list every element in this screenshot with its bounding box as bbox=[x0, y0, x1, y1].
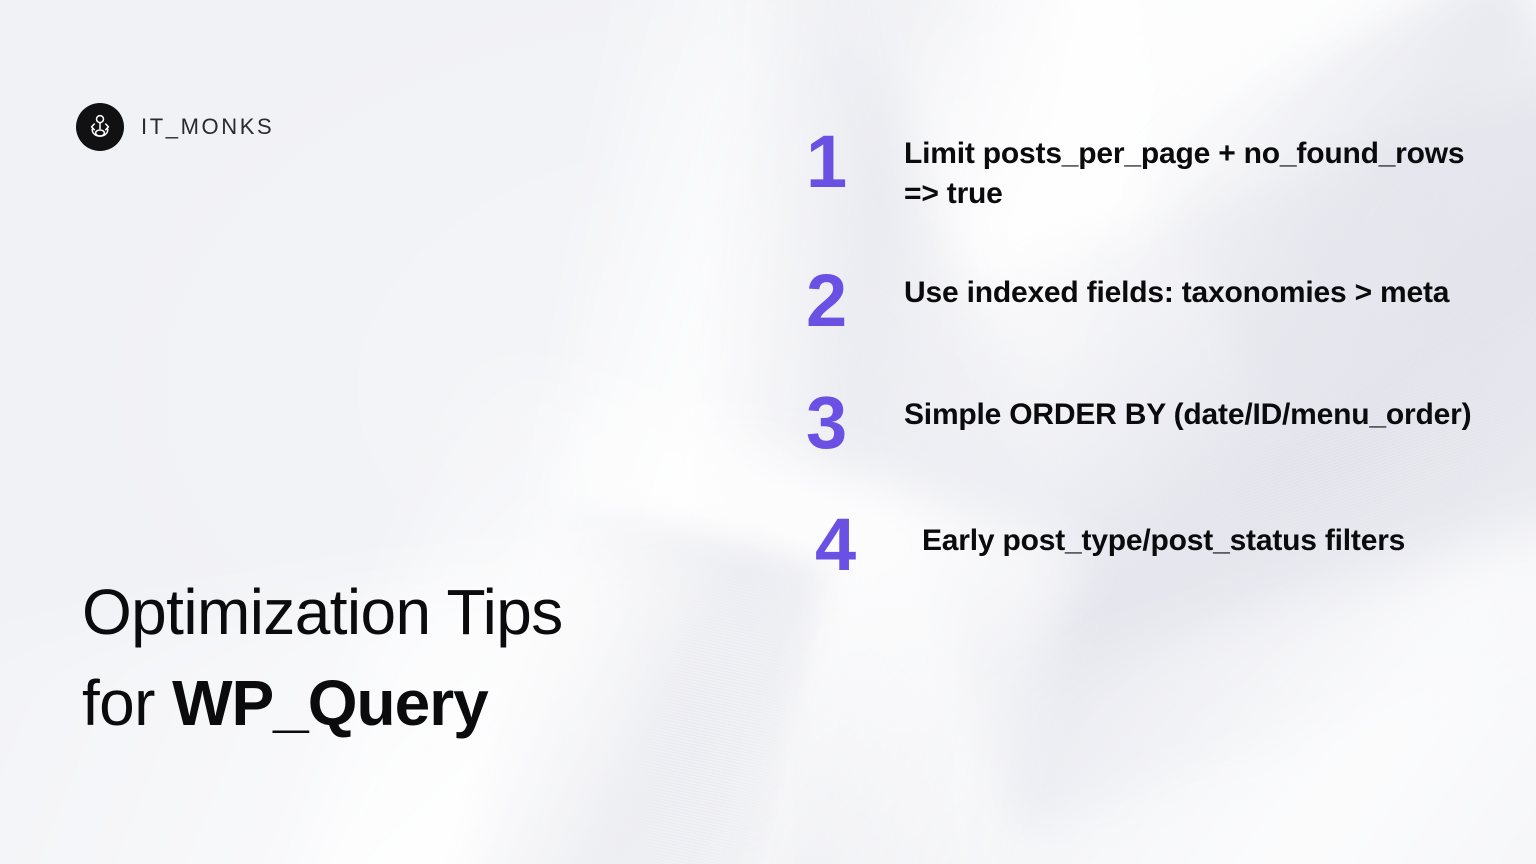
page-title: Optimization Tips for WP_Query bbox=[82, 567, 742, 749]
tip-text: Simple ORDER BY (date/ID/menu_order) bbox=[904, 389, 1496, 435]
tip-text: Early post_type/post_status filters bbox=[913, 511, 1496, 561]
tip-number: 1 bbox=[806, 128, 904, 196]
brand-logo: IT_MONKS bbox=[76, 103, 274, 151]
list-item: 1 Limit posts_per_page + no_found_rows =… bbox=[806, 128, 1496, 213]
slide-canvas: IT_MONKS Optimization Tips for WP_Query … bbox=[0, 0, 1536, 864]
brand-name: IT_MONKS bbox=[141, 114, 274, 140]
tip-number: 2 bbox=[806, 267, 904, 335]
page-title-emphasis: WP_Query bbox=[172, 667, 488, 739]
list-item: 3 Simple ORDER BY (date/ID/menu_order) bbox=[806, 389, 1496, 457]
page-title-line-2: for WP_Query bbox=[82, 658, 742, 749]
page-title-prefix: for bbox=[82, 667, 172, 739]
page-title-line-1: Optimization Tips bbox=[82, 567, 742, 658]
tip-text: Limit posts_per_page + no_found_rows => … bbox=[904, 128, 1496, 213]
tip-number: 3 bbox=[806, 389, 904, 457]
page-title-line-1-text: Optimization Tips bbox=[82, 576, 563, 648]
tip-text: Use indexed fields: taxonomies > meta bbox=[904, 267, 1496, 313]
list-item: 2 Use indexed fields: taxonomies > meta bbox=[806, 267, 1496, 335]
tip-number: 4 bbox=[806, 511, 913, 579]
it-monks-monk-mark-icon bbox=[76, 103, 124, 151]
list-item: 4 Early post_type/post_status filters bbox=[806, 511, 1496, 579]
tips-list: 1 Limit posts_per_page + no_found_rows =… bbox=[806, 128, 1496, 579]
